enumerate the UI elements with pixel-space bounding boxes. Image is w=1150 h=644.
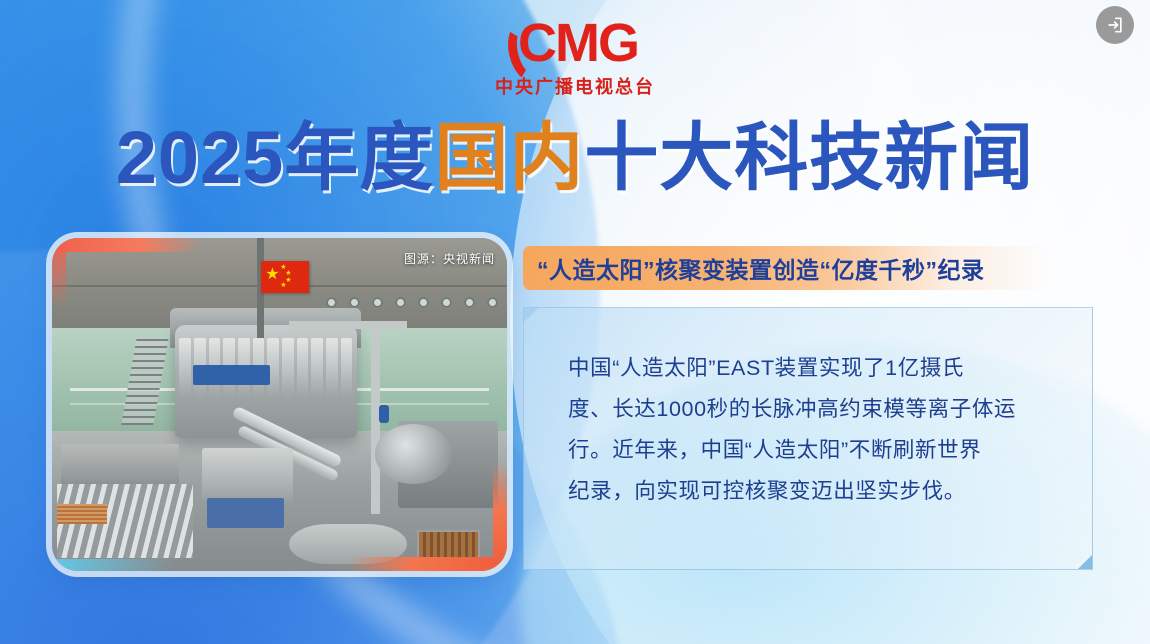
body-line: 纪录，向实现可控核聚变迈出坚实步伐。 (568, 471, 1060, 512)
photo-institute-label (193, 365, 270, 385)
article-headline-bar: “人造太阳”核聚变装置创造“亿度千秒”纪录 (523, 246, 1093, 290)
photo-source-caption: 图源：央视新闻 (404, 250, 495, 267)
photo-corner-accent-bottom-right (347, 557, 507, 571)
body-line: 度、长达1000秒的长脉冲高约束模等离子体运 (568, 389, 1060, 430)
body-line: 行。近年来，中国“人造太阳”不断刷新世界 (568, 430, 1060, 471)
title-part-2: 十大科技新闻 (584, 116, 1034, 199)
photo-equipment-box (202, 448, 293, 501)
photo-worker (379, 405, 389, 423)
photo-corner-accent-right (493, 461, 507, 571)
photo-cabinet-left (61, 444, 179, 484)
cmg-logo: CMG 中央广播电视总台 (0, 16, 1150, 99)
panel-corner-bottom-right (1078, 555, 1092, 569)
news-photo-card[interactable]: ★★★ ★★ 图源： (52, 238, 507, 571)
photo-corner-accent-top-left (52, 238, 202, 252)
news-slide: CMG 中央广播电视总台 2025年度国内十大科技新闻 ★★★ ★★ (0, 0, 1150, 644)
title-part-1: 2025年度 (116, 116, 435, 199)
photo-corner-accent-bottom-left (52, 559, 172, 571)
page-title: 2025年度国内十大科技新闻 (0, 118, 1150, 198)
photo-corner-accent-left (52, 238, 66, 308)
photo-copper-busbar (57, 504, 107, 524)
article-headline: “人造太阳”核聚变装置创造“亿度千秒”纪录 (523, 251, 985, 285)
china-flag-icon: ★★★ ★★ (261, 261, 309, 293)
cmg-subtitle: 中央广播电视总台 (495, 73, 655, 99)
cmg-wordmark: CMG (512, 16, 638, 70)
photo-equipment-sign (207, 498, 284, 528)
article-body-text: 中国“人造太阳”EAST装置实现了1亿摄氏 度、长达1000秒的长脉冲高约束模等… (568, 348, 1060, 512)
body-line: 中国“人造太阳”EAST装置实现了1亿摄氏 (568, 348, 1060, 389)
photo-gantry-beam (289, 321, 407, 329)
article-body-panel: 中国“人造太阳”EAST装置实现了1亿摄氏 度、长达1000秒的长脉冲高约束模等… (523, 307, 1093, 570)
panel-corner-top-left (524, 308, 538, 322)
title-accent: 国内 (434, 116, 584, 199)
news-photo: ★★★ ★★ 图源： (52, 238, 507, 571)
